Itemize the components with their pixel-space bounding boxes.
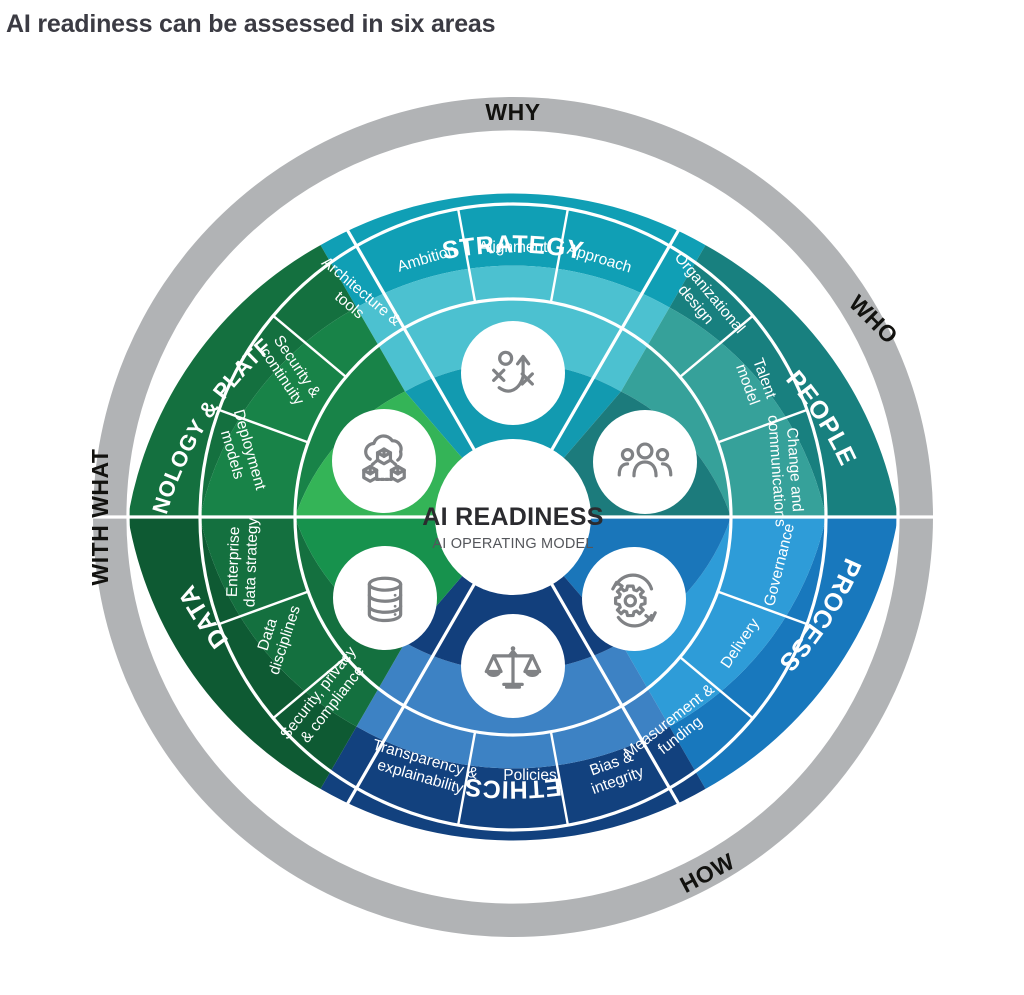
sub-label-policies: Policies [503,767,557,784]
quadrant-label-with-what: WITH WHAT [87,449,113,586]
wheel-svg: STRATEGY PEOPLE PROCESS ETHICS DATA TECH… [0,0,1024,995]
process-gear-cycle-icon[interactable] [582,547,686,651]
sub-label-alignment: Alignment [479,239,549,256]
data-database-icon[interactable] [333,546,437,650]
ai-readiness-wheel: STRATEGY PEOPLE PROCESS ETHICS DATA TECH… [0,0,1024,995]
center-subtitle: AI OPERATING MODEL [432,536,593,552]
ethics-scales-icon[interactable] [461,614,565,718]
people-group-icon[interactable] [593,410,697,514]
technology-cloud-nodes-icon[interactable] [332,409,436,513]
strategy-playbook-icon[interactable] [461,321,565,425]
sub-label-enterprise-data-strategy: Enterprisedata strategy [223,517,261,608]
center-title: AI READINESS [422,503,603,531]
quadrant-label-why: WHY [485,99,540,125]
